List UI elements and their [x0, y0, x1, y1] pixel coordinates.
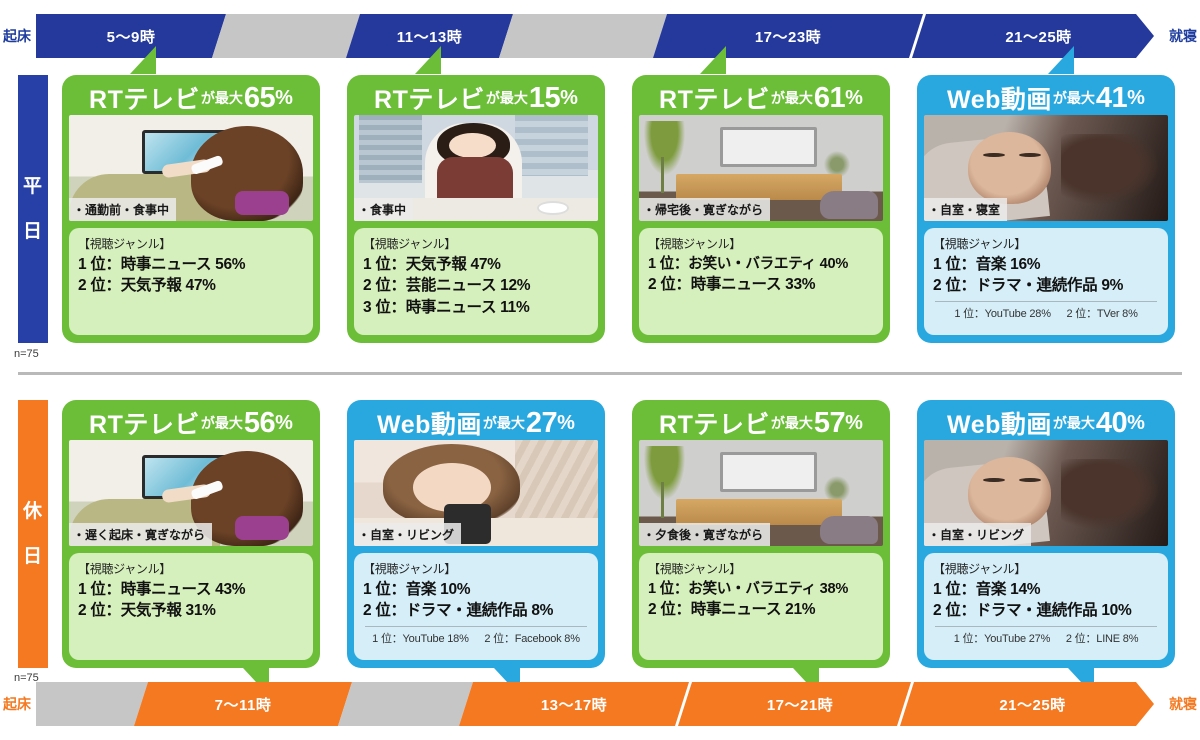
card-holiday-4-panel: 【視聴ジャンル】 1 位：音楽 14% 2 位：ドラマ・連続作品 10% 1 位… [924, 553, 1168, 660]
card-weekday-2-rank-1: 1 位：天気予報 47% [363, 254, 589, 275]
timeline-top-segment-4[interactable]: 17～23時 [653, 14, 923, 58]
card-holiday-4-platform-1: 1 位：YouTube 27% [954, 633, 1050, 645]
card-holiday-3-panel: 【視聴ジャンル】 1 位：お笑い・バラエティ 38% 2 位：時事ニュース 21… [639, 553, 883, 660]
card-holiday-3-rank-1: 1 位：お笑い・バラエティ 38% [648, 579, 874, 599]
card-holiday-2-percent: 27 [526, 407, 557, 440]
card-holiday-1[interactable]: RTテレビ が最大 56 % ・遅く起床・寛ぎながら 【視聴ジャンル】 1 位：… [62, 400, 320, 668]
card-holiday-4-rank-2: 2 位：ドラマ・連続作品 10% [933, 600, 1159, 621]
card-holiday-4-photo-caption: ・自室・リビング [924, 523, 1031, 546]
card-weekday-4-photo-caption: ・自室・寝室 [924, 198, 1007, 221]
card-weekday-3-photo: ・帰宅後・寛ぎながら [639, 115, 883, 221]
card-holiday-1-genre-header: 【視聴ジャンル】 [78, 560, 304, 577]
card-holiday-3-connector: が最大 [771, 413, 813, 440]
card-weekday-4[interactable]: Web動画 が最大 41 % ・自室・寝室 【視聴ジャンル】 1 位：音楽 16… [917, 75, 1175, 343]
card-holiday-3-photo: ・夕食後・寛ぎながら [639, 440, 883, 546]
row-label-weekday-char-1: 平 [23, 177, 43, 196]
row-separator [18, 372, 1182, 375]
card-holiday-4-connector: が最大 [1053, 413, 1095, 440]
card-weekday-4-media: Web動画 [947, 80, 1052, 116]
card-holiday-3-media: RTテレビ [659, 405, 770, 441]
card-holiday-3-photo-caption: ・夕食後・寛ぎながら [639, 523, 770, 546]
card-holiday-3-percent-symbol: % [845, 412, 863, 435]
timeline-bottom-segment-3[interactable]: 13～17時 [459, 682, 689, 726]
card-holiday-1-photo-caption: ・遅く起床・寛ぎながら [69, 523, 212, 546]
card-holiday-3-title: RTテレビ が最大 57 % [639, 406, 883, 440]
card-holiday-1-connector: が最大 [201, 413, 243, 440]
card-holiday-4-rank-1: 1 位：音楽 14% [933, 579, 1159, 600]
card-weekday-3-genre-header: 【視聴ジャンル】 [648, 235, 874, 252]
card-holiday-2-photo-caption: ・自室・リビング [354, 523, 461, 546]
card-weekday-2-genre-header: 【視聴ジャンル】 [363, 235, 589, 252]
timeline-bottom-track: 7～11時 13～17時 17～21時 21～25時 [36, 682, 1154, 726]
card-weekday-4-rank-1: 1 位：音楽 16% [933, 254, 1159, 275]
card-weekday-4-panel: 【視聴ジャンル】 1 位：音楽 16% 2 位：ドラマ・連続作品 9% 1 位：… [924, 228, 1168, 335]
card-holiday-1-photo: ・遅く起床・寛ぎながら [69, 440, 313, 546]
timeline-bottom-segment-2[interactable] [338, 682, 473, 726]
card-weekday-3-percent-symbol: % [845, 87, 863, 110]
card-holiday-2-platform-1: 1 位：YouTube 18% [372, 633, 468, 645]
card-weekday-4-title: Web動画 が最大 41 % [924, 81, 1168, 115]
card-holiday-2-media: Web動画 [377, 405, 482, 441]
card-weekday-4-photo: ・自室・寝室 [924, 115, 1168, 221]
card-weekday-4-connector: が最大 [1053, 88, 1095, 115]
card-holiday-3-percent: 57 [814, 407, 845, 440]
card-weekday-2[interactable]: RTテレビ が最大 15 % ・食事中 【視聴ジャンル】 1 位：天気予報 47… [347, 75, 605, 343]
card-weekday-1-photo-caption: ・通勤前・食事中 [69, 198, 176, 221]
card-weekday-3-media: RTテレビ [659, 80, 770, 116]
timeline-bottom-end-label: 就寝 [1166, 682, 1200, 726]
card-weekday-3-rank-1: 1 位：お笑い・バラエティ 40% [648, 254, 874, 274]
card-holiday-2-platform-row: 1 位：YouTube 18% 2 位：Facebook 8% [363, 630, 589, 646]
card-weekday-1-percent: 65 [244, 82, 275, 115]
card-weekday-3-connector: が最大 [771, 88, 813, 115]
card-weekday-4-rank-2: 2 位：ドラマ・連続作品 9% [933, 275, 1159, 296]
card-holiday-3-rank-2: 2 位：時事ニュース 21% [648, 599, 874, 620]
card-holiday-4-platform-2: 2 位：LINE 8% [1066, 633, 1138, 645]
timeline-top-start-char-1: 起床 [3, 29, 31, 44]
infographic-root: 起床 5～9時 11～13時 17～23時 21～25時 就寝 [0, 0, 1200, 740]
card-weekday-3-rank-2: 2 位：時事ニュース 33% [648, 274, 874, 295]
card-holiday-2-connector: が最大 [483, 413, 525, 440]
card-holiday-4-media: Web動画 [947, 405, 1052, 441]
timeline-top-segment-2[interactable]: 11～13時 [346, 14, 513, 58]
card-holiday-4-genre-header: 【視聴ジャンル】 [933, 560, 1159, 577]
card-weekday-3-title: RTテレビ が最大 61 % [639, 81, 883, 115]
timeline-top-segment-0[interactable]: 5～9時 [36, 14, 226, 58]
card-weekday-1-panel: 【視聴ジャンル】 1 位：時事ニュース 56% 2 位：天気予報 47% [69, 228, 313, 335]
card-weekday-4-divider [935, 301, 1157, 302]
card-holiday-4-divider [935, 626, 1157, 627]
card-weekday-3-photo-caption: ・帰宅後・寛ぎながら [639, 198, 770, 221]
card-weekday-3-panel: 【視聴ジャンル】 1 位：お笑い・バラエティ 40% 2 位：時事ニュース 33… [639, 228, 883, 335]
card-weekday-1-percent-symbol: % [275, 87, 293, 110]
card-weekday-2-rank-2: 2 位：芸能ニュース 12% [363, 275, 589, 296]
card-holiday-4-platform-row: 1 位：YouTube 27% 2 位：LINE 8% [933, 630, 1159, 646]
card-holiday-1-percent-symbol: % [275, 412, 293, 435]
timeline-top-segment-5[interactable]: 21～25時 [923, 14, 1154, 58]
timeline-bottom-segment-1[interactable]: 7～11時 [134, 682, 352, 726]
card-holiday-2-rank-2: 2 位：ドラマ・連続作品 8% [363, 600, 589, 621]
timeline-bottom-segment-4[interactable]: 17～21時 [689, 682, 911, 726]
card-weekday-1-connector: が最大 [201, 88, 243, 115]
timeline-top-start-label: 起床 [0, 14, 34, 58]
timeline-holiday: 起床 7～11時 13～17時 17～21時 21～25時 [0, 682, 1200, 726]
timeline-top-track: 5～9時 11～13時 17～23時 21～25時 [36, 14, 1154, 58]
card-weekday-4-genre-header: 【視聴ジャンル】 [933, 235, 1159, 252]
card-weekday-4-percent-symbol: % [1127, 87, 1145, 110]
row-label-holiday: 休 日 [18, 400, 48, 668]
card-weekday-2-connector: が最大 [486, 88, 528, 115]
card-holiday-1-panel: 【視聴ジャンル】 1 位：時事ニュース 43% 2 位：天気予報 31% [69, 553, 313, 660]
row-label-holiday-char-2: 日 [23, 547, 43, 566]
card-weekday-2-title: RTテレビ が最大 15 % [354, 81, 598, 115]
row-label-weekday-char-2: 日 [23, 222, 43, 241]
card-weekday-2-percent: 15 [529, 82, 560, 115]
timeline-top-segment-3[interactable] [499, 14, 667, 58]
card-holiday-2-divider [365, 626, 587, 627]
card-weekday-4-platform-row: 1 位：YouTube 28% 2 位：TVer 8% [933, 305, 1159, 321]
card-weekday-1-media: RTテレビ [89, 80, 200, 116]
card-weekday-2-panel: 【視聴ジャンル】 1 位：天気予報 47% 2 位：芸能ニュース 12% 3 位… [354, 228, 598, 335]
card-weekday-1-title: RTテレビ が最大 65 % [69, 81, 313, 115]
timeline-bottom-segment-5[interactable]: 21～25時 [911, 682, 1154, 726]
card-holiday-2-photo: ・自室・リビング [354, 440, 598, 546]
card-holiday-4[interactable]: Web動画 が最大 40 % ・自室・リビング 【視聴ジャンル】 1 位：音楽 … [917, 400, 1175, 668]
card-weekday-1-photo: ・通勤前・食事中 [69, 115, 313, 221]
card-weekday-1-rank-2: 2 位：天気予報 47% [78, 275, 304, 296]
card-weekday-3[interactable]: RTテレビ が最大 61 % ・帰宅後・寛ぎながら 【視聴ジャンル】 1 位：お… [632, 75, 890, 343]
card-holiday-2[interactable]: Web動画 が最大 27 % ・自室・リビング 【視聴ジャンル】 1 位：音楽 … [347, 400, 605, 668]
card-holiday-4-photo: ・自室・リビング [924, 440, 1168, 546]
card-holiday-1-percent: 56 [244, 407, 275, 440]
card-weekday-4-platform-2: 2 位：TVer 8% [1067, 308, 1138, 320]
timeline-bottom-start-label: 起床 [0, 682, 34, 726]
card-holiday-2-title: Web動画 が最大 27 % [354, 406, 598, 440]
card-weekday-1-rank-1: 1 位：時事ニュース 56% [78, 254, 304, 275]
card-holiday-1-rank-1: 1 位：時事ニュース 43% [78, 579, 304, 600]
card-holiday-4-title: Web動画 が最大 40 % [924, 406, 1168, 440]
timeline-top-end-label: 就寝 [1166, 14, 1200, 58]
card-holiday-2-rank-1: 1 位：音楽 10% [363, 579, 589, 600]
card-holiday-1-rank-2: 2 位：天気予報 31% [78, 600, 304, 621]
card-holiday-2-panel: 【視聴ジャンル】 1 位：音楽 10% 2 位：ドラマ・連続作品 8% 1 位：… [354, 553, 598, 660]
card-holiday-4-percent: 40 [1096, 407, 1127, 440]
card-weekday-2-photo: ・食事中 [354, 115, 598, 221]
card-weekday-2-media: RTテレビ [374, 80, 485, 116]
card-holiday-4-percent-symbol: % [1127, 412, 1145, 435]
card-holiday-3-genre-header: 【視聴ジャンル】 [648, 560, 874, 577]
row-label-holiday-char-1: 休 [23, 502, 43, 521]
card-holiday-1-title: RTテレビ が最大 56 % [69, 406, 313, 440]
card-weekday-3-percent: 61 [814, 82, 845, 115]
timeline-top-segment-1[interactable] [212, 14, 360, 58]
card-weekday-1[interactable]: RTテレビ が最大 65 % ・通勤前・食事中 【視聴ジャンル】 1 位：時事ニ… [62, 75, 320, 343]
card-holiday-2-platform-2: 2 位：Facebook 8% [484, 633, 579, 645]
row-label-weekday: 平 日 [18, 75, 48, 343]
card-weekday-4-percent: 41 [1096, 82, 1127, 115]
sample-size-weekday: n=75 [14, 348, 60, 360]
card-weekday-2-rank-3: 3 位：時事ニュース 11% [363, 297, 589, 318]
card-holiday-2-genre-header: 【視聴ジャンル】 [363, 560, 589, 577]
card-weekday-4-platform-1: 1 位：YouTube 28% [954, 308, 1050, 320]
card-weekday-2-percent-symbol: % [560, 87, 578, 110]
card-holiday-2-percent-symbol: % [557, 412, 575, 435]
card-weekday-2-photo-caption: ・食事中 [354, 198, 413, 221]
card-weekday-1-genre-header: 【視聴ジャンル】 [78, 235, 304, 252]
card-holiday-1-media: RTテレビ [89, 405, 200, 441]
card-holiday-3[interactable]: RTテレビ が最大 57 % ・夕食後・寛ぎながら 【視聴ジャンル】 1 位：お… [632, 400, 890, 668]
timeline-bottom-segment-0[interactable] [36, 682, 148, 726]
timeline-weekday: 起床 5～9時 11～13時 17～23時 21～25時 就寝 [0, 14, 1200, 58]
